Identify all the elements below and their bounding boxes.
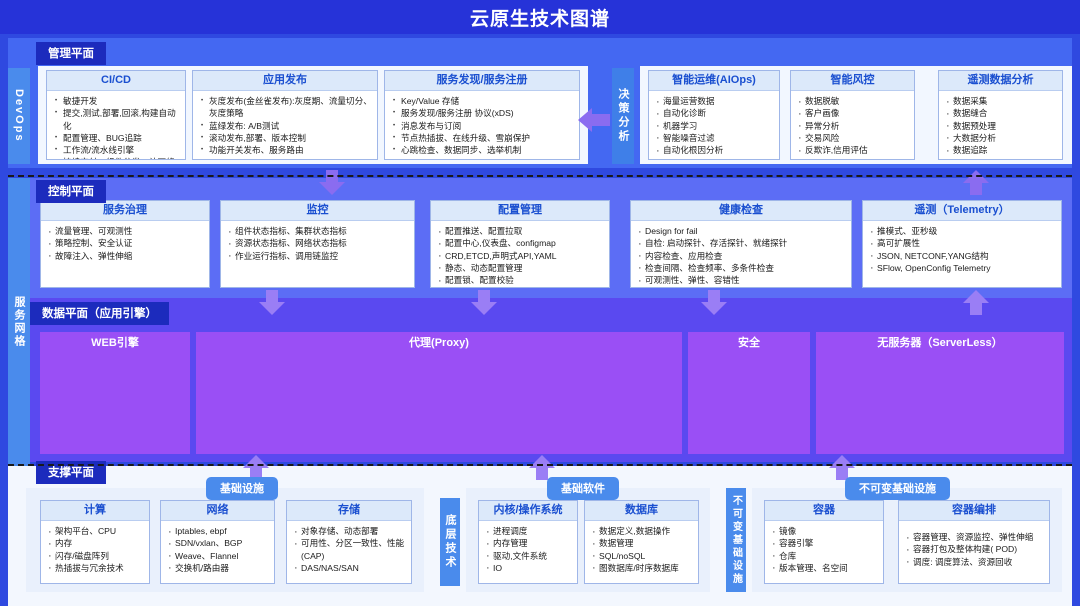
- arrow-down-to-data-2: [470, 290, 498, 316]
- group-web-engine-header: WEB引擎: [40, 332, 190, 351]
- card-list: 灰度发布(金丝雀发布):灰度期、流量切分、灰度策略 蓝绿发布: A/B测试 滚动…: [199, 95, 372, 156]
- card-list: 推模式、亚秒级 高可扩展性 JSON, NETCONF,YANG结构 SFlow…: [869, 225, 1056, 274]
- card-title: 数据库: [585, 501, 698, 521]
- card-list: 镜像 容器引擎 仓库 版本管理、名空间: [771, 525, 878, 574]
- card-cicd: CI/CD 敏捷开发 提交,测试,部署,回滚,构建自动化 配置管理、BUG追踪 …: [46, 70, 186, 160]
- card-title: 内核/操作系统: [479, 501, 577, 521]
- card-list: 配置推送、配置拉取 配置中心,仪表盘、configmap CRD,ETCD,声明…: [437, 225, 604, 286]
- card-list: 容器管理、资源监控、弹性伸缩 容器打包及整体构建( POD) 调度: 调度算法、…: [905, 531, 1044, 568]
- card-title: 存储: [287, 501, 411, 521]
- card-title: 监控: [221, 201, 414, 221]
- card-list: 架构平台、CPU 内存 闪存/磁盘阵列 热插拔与冗余技术: [47, 525, 144, 574]
- card-title: 智能风控: [791, 71, 914, 91]
- card-list: 组件状态指标、集群状态指标 资源状态指标、网络状态指标 作业运行指标、调用链监控: [227, 225, 409, 262]
- card-title: 应用发布: [193, 71, 377, 91]
- card-list: Iptables, ebpf SDN/vxlan、BGP Weave、Flann…: [167, 525, 269, 574]
- card-service-governance: 服务治理 流量管理、可观测性 策略控制、安全认证 故障注入、弹性伸缩: [40, 200, 210, 288]
- tech-map-page: 云原生技术图谱 管理平面 DevOps CI/CD 敏捷开发 提交,测试,部署,…: [0, 0, 1080, 606]
- card-list: 数据定义,数据操作 数据管理 SQL/noSQL 图数据库/时序数据库: [591, 525, 693, 574]
- arrow-down-to-control: [318, 170, 346, 196]
- card-list: Key/Value 存储 服务发现/服务注册 协议(xDS) 消息发布与订阅 节…: [391, 95, 574, 156]
- group-serverless-header: 无服务器（ServerLess）: [816, 332, 1064, 351]
- card-list: 敏捷开发 提交,测试,部署,回滚,构建自动化 配置管理、BUG追踪 工作流/流水…: [53, 95, 180, 159]
- card-title: CI/CD: [47, 71, 185, 91]
- card-list: 海量运营数据 自动化诊断 机器学习 智能噪音过滤 自动化根因分析: [655, 95, 774, 156]
- arrow-left-to-devops: [576, 105, 612, 135]
- card-title: 服务发现/服务注册: [385, 71, 579, 91]
- card-network: 网络 Iptables, ebpf SDN/vxlan、BGP Weave、Fl…: [160, 500, 275, 584]
- card-title: 服务治理: [41, 201, 209, 221]
- arrow-down-to-data-3: [700, 290, 728, 316]
- card-title: 网络: [161, 501, 274, 521]
- card-title: 遥测数据分析: [939, 71, 1062, 91]
- card-risk-control: 智能风控 数据脱敏 客户画像 异常分析 交易风险 反欺诈,信用评估: [790, 70, 915, 160]
- card-config-management: 配置管理 配置推送、配置拉取 配置中心,仪表盘、configmap CRD,ET…: [430, 200, 610, 288]
- page-title: 云原生技术图谱: [470, 4, 610, 31]
- card-monitoring: 监控 组件状态指标、集群状态指标 资源状态指标、网络状态指标 作业运行指标、调用…: [220, 200, 415, 288]
- pill-infrastructure: 基础设施: [206, 477, 278, 500]
- card-title: 容器: [765, 501, 883, 521]
- card-compute: 计算 架构平台、CPU 内存 闪存/磁盘阵列 热插拔与冗余技术: [40, 500, 150, 584]
- arrow-up-to-management: [962, 170, 990, 196]
- divider-management: [8, 175, 1072, 177]
- card-title: 容器编排: [899, 501, 1049, 521]
- card-list: 进程调度 内存管理 驱动,文件系统 IO: [485, 525, 572, 574]
- card-service-discovery: 服务发现/服务注册 Key/Value 存储 服务发现/服务注册 协议(xDS)…: [384, 70, 580, 160]
- card-app-release: 应用发布 灰度发布(金丝雀发布):灰度期、流量切分、灰度策略 蓝绿发布: A/B…: [192, 70, 378, 160]
- rail-service-mesh: 服务网格: [8, 178, 30, 466]
- card-list: 流量管理、可观测性 策略控制、安全认证 故障注入、弹性伸缩: [47, 225, 204, 262]
- decision-analysis-rail: 决策分析: [612, 68, 634, 164]
- group-proxy-header: 代理(Proxy): [196, 332, 682, 351]
- card-list: 对象存储、动态部署 可用性、分区一致性、性能(CAP) DAS/NAS/SAN: [293, 525, 406, 574]
- management-plane-tag: 管理平面: [36, 42, 106, 65]
- card-list: 数据采集 数据缝合 数据预处理 大数据分析 数据追踪: [945, 95, 1057, 156]
- arrow-down-to-data: [258, 290, 286, 316]
- control-plane-tag: 控制平面: [36, 180, 106, 203]
- rail-devops: DevOps: [8, 68, 30, 164]
- card-title: 配置管理: [431, 201, 609, 221]
- pill-base-software: 基础软件: [547, 477, 619, 500]
- card-storage: 存储 对象存储、动态部署 可用性、分区一致性、性能(CAP) DAS/NAS/S…: [286, 500, 412, 584]
- pill-immutable-infrastructure: 不可变基础设施: [845, 477, 950, 500]
- card-database: 数据库 数据定义,数据操作 数据管理 SQL/noSQL 图数据库/时序数据库: [584, 500, 699, 584]
- card-aiops: 智能运维(AIOps) 海量运营数据 自动化诊断 机器学习 智能噪音过滤 自动化…: [648, 70, 780, 160]
- card-container: 容器 镜像 容器引擎 仓库 版本管理、名空间: [764, 500, 884, 584]
- card-kernel-os: 内核/操作系统 进程调度 内存管理 驱动,文件系统 IO: [478, 500, 578, 584]
- divider-data: [8, 464, 1072, 466]
- card-title: 智能运维(AIOps): [649, 71, 779, 91]
- card-title: 计算: [41, 501, 149, 521]
- card-telemetry-analysis: 遥测数据分析 数据采集 数据缝合 数据预处理 大数据分析 数据追踪: [938, 70, 1063, 160]
- arrow-up-from-data: [962, 290, 990, 316]
- card-list: Design for fail 自检: 启动探针、存活探针、就绪探针 内容检查、…: [637, 225, 846, 286]
- card-title: 遥测（Telemetry）: [863, 201, 1061, 221]
- card-container-orchestration: 容器编排 容器管理、资源监控、弹性伸缩 容器打包及整体构建( POD) 调度: …: [898, 500, 1050, 584]
- card-list: 数据脱敏 客户画像 异常分析 交易风险 反欺诈,信用评估: [797, 95, 909, 156]
- data-plane-tag: 数据平面（应用引擎）: [30, 302, 169, 325]
- rail-immutable-infrastructure: 不可变基础设施: [726, 488, 746, 592]
- group-security-header: 安全: [688, 332, 810, 351]
- card-health-check: 健康检查 Design for fail 自检: 启动探针、存活探针、就绪探针 …: [630, 200, 852, 288]
- rail-underlying-tech-1: 底层技术: [440, 498, 460, 586]
- card-telemetry: 遥测（Telemetry） 推模式、亚秒级 高可扩展性 JSON, NETCON…: [862, 200, 1062, 288]
- card-title: 健康检查: [631, 201, 851, 221]
- page-title-bar: 云原生技术图谱: [0, 0, 1080, 34]
